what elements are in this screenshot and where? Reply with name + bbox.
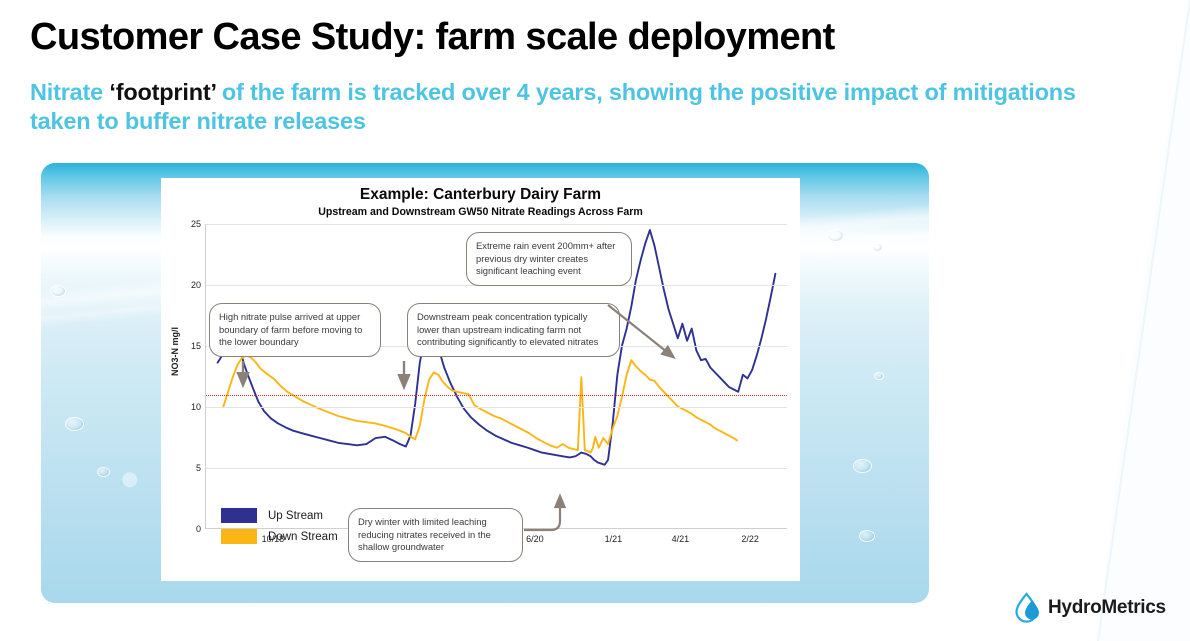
x-axis-tick-label: 4/21 xyxy=(672,534,690,544)
annotation-text: High nitrate pulse arrived at upper boun… xyxy=(219,311,362,347)
y-axis-tick-label: 10 xyxy=(191,402,201,412)
subtitle-emphasis: ‘footprint’ xyxy=(109,79,215,105)
x-axis-tick-label: 6/20 xyxy=(526,534,544,544)
annotation-dry-winter: Dry winter with limited leaching reducin… xyxy=(348,508,523,562)
bubble-decoration xyxy=(97,467,110,477)
water-droplet-icon xyxy=(1013,592,1041,624)
annotation-extreme-rain-event: Extreme rain event 200mm+ after previous… xyxy=(466,232,632,286)
legend-swatch xyxy=(221,529,257,544)
annotation-text: Extreme rain event 200mm+ after previous… xyxy=(476,240,615,276)
bubble-decoration xyxy=(827,229,844,242)
page-title: Customer Case Study: farm scale deployme… xyxy=(30,16,835,59)
bubble-decoration xyxy=(853,459,872,473)
legend-item[interactable]: Down Stream xyxy=(221,529,338,544)
gridline xyxy=(206,468,787,469)
gridline xyxy=(206,224,787,225)
chart-legend: Up StreamDown Stream xyxy=(221,508,338,550)
legend-swatch xyxy=(221,508,257,523)
annotation-text: Dry winter with limited leaching reducin… xyxy=(358,516,491,552)
y-axis-tick-label: 0 xyxy=(196,524,201,534)
page-subtitle: Nitrate ‘footprint’ of the farm is track… xyxy=(30,78,1100,137)
annotation-high-nitrate-pulse: High nitrate pulse arrived at upper boun… xyxy=(209,303,381,357)
chart-subtitle: Upstream and Downstream GW50 Nitrate Rea… xyxy=(161,206,800,218)
y-axis-tick-label: 15 xyxy=(191,341,201,351)
annotation-text: Downstream peak concentration typically … xyxy=(417,311,598,347)
subtitle-part1: Nitrate xyxy=(30,79,109,105)
brand-logo: HydroMetrics xyxy=(1013,592,1166,624)
bubble-decoration xyxy=(872,243,883,252)
legend-label: Down Stream xyxy=(268,531,338,543)
bubble-decoration xyxy=(874,372,884,380)
y-axis-tick-label: 5 xyxy=(196,463,201,473)
bubble-decoration xyxy=(859,530,875,542)
threshold-line xyxy=(206,395,787,396)
chart-title: Example: Canterbury Dairy Farm xyxy=(161,186,800,204)
x-axis-tick-label: 1/21 xyxy=(605,534,623,544)
series-line-down-stream xyxy=(223,355,737,452)
y-axis-tick-label: 20 xyxy=(191,280,201,290)
bubble-decoration xyxy=(65,417,84,431)
y-axis-tick-label: 25 xyxy=(191,219,201,229)
bubble-decoration xyxy=(50,285,66,297)
y-axis-title: NO3-N mg/l xyxy=(170,327,180,376)
slide-root: Customer Case Study: farm scale deployme… xyxy=(0,0,1190,641)
legend-item[interactable]: Up Stream xyxy=(221,508,338,523)
x-axis-tick-label: 2/22 xyxy=(741,534,759,544)
legend-label: Up Stream xyxy=(268,510,323,522)
gridline xyxy=(206,407,787,408)
brand-name: HydroMetrics xyxy=(1048,597,1166,619)
annotation-downstream-peak: Downstream peak concentration typically … xyxy=(407,303,620,357)
